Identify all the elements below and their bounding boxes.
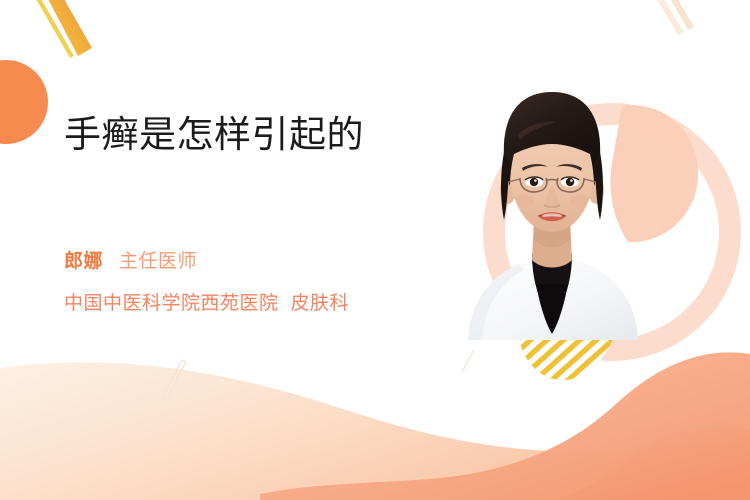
doctor-organization: 中国中医科学院西苑医院 xyxy=(64,293,279,314)
doctor-department: 皮肤科 xyxy=(291,293,350,314)
doctor-professional-title: 主任医师 xyxy=(119,251,197,272)
page-title: 手癣是怎样引起的 xyxy=(64,112,364,157)
doctor-name: 郎娜 xyxy=(64,251,103,272)
card-content: 手癣是怎样引起的 郎娜主任医师 中国中医科学院西苑医院皮肤科 xyxy=(0,0,750,500)
doctor-info-card: 手癣是怎样引起的 郎娜主任医师 中国中医科学院西苑医院皮肤科 xyxy=(0,0,750,500)
doctor-affiliation-row: 中国中医科学院西苑医院皮肤科 xyxy=(64,288,349,315)
doctor-name-row: 郎娜主任医师 xyxy=(64,246,197,273)
